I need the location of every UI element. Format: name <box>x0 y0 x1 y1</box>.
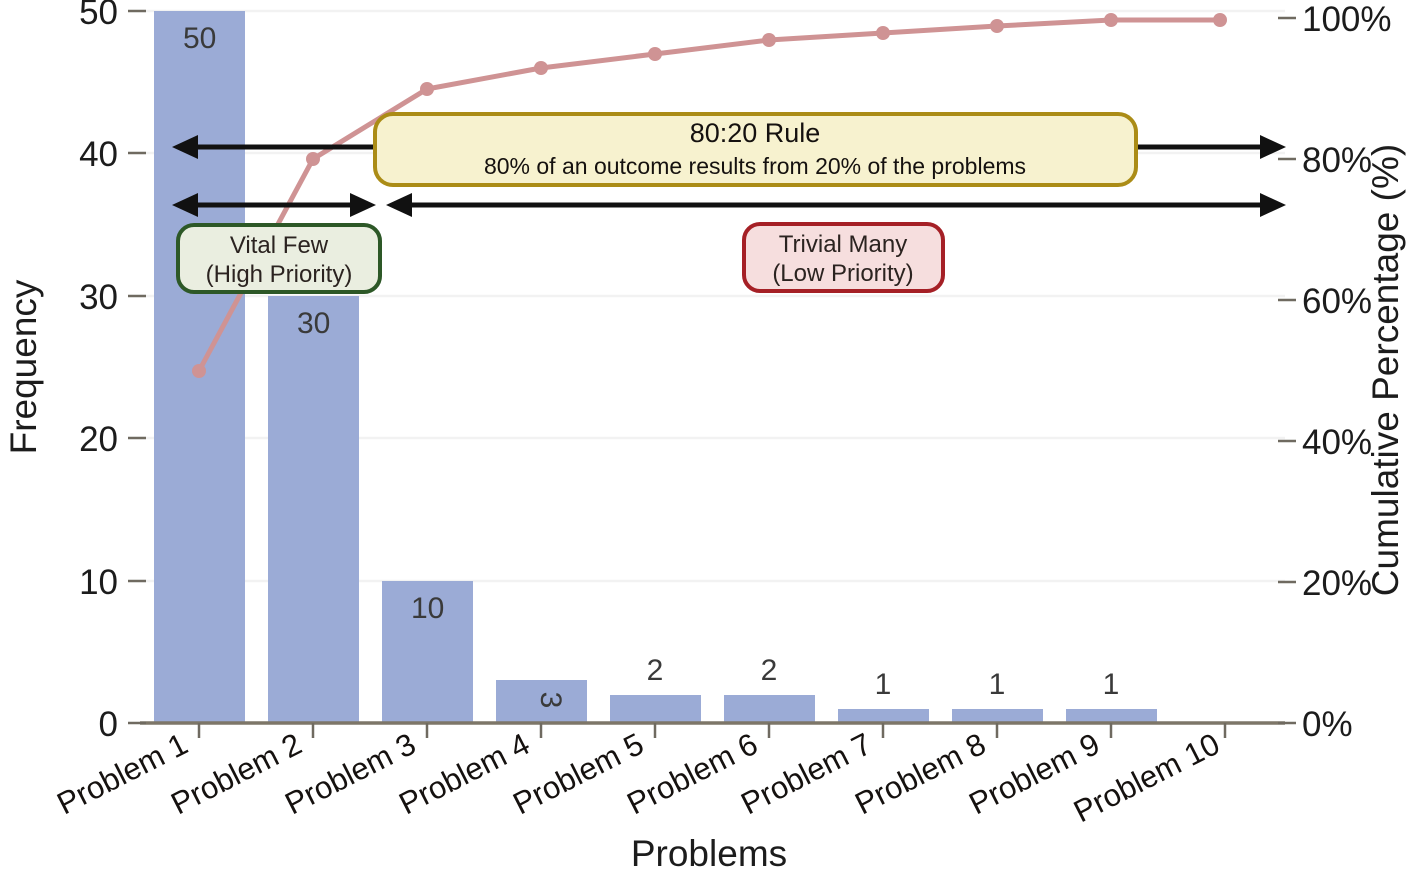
x-axis-tick-labels: Problem 1 Problem 2 Problem 3 Problem 4 … <box>51 726 1225 829</box>
ytick-label-30: 30 <box>79 278 118 317</box>
cumulative-point-6[interactable] <box>762 33 776 47</box>
vital-few-line-1: Vital Few <box>230 232 329 259</box>
y-axis-title: Frequency <box>3 279 44 454</box>
cumulative-point-4[interactable] <box>534 61 548 75</box>
y2tick-label-40: 40% <box>1302 423 1372 462</box>
left-axis-ticks: 50 40 30 20 10 0 <box>79 0 146 744</box>
bar-problem-9[interactable] <box>1066 709 1157 723</box>
rule-span-arrow-head-right <box>1260 135 1286 159</box>
y2tick-label-100: 100% <box>1302 0 1392 39</box>
xtick-label-4: Problem 4 <box>393 726 535 821</box>
cumulative-point-10[interactable] <box>1213 13 1227 27</box>
y2tick-label-0: 0% <box>1302 705 1353 744</box>
xtick-label-2: Problem 2 <box>165 726 307 821</box>
trivial-many-line-1: Trivial Many <box>779 231 907 258</box>
bar-problem-8[interactable] <box>952 709 1043 723</box>
trivial-many-arrow-head-left <box>386 193 412 217</box>
cumulative-point-1[interactable] <box>192 364 206 378</box>
trivial-many-line-2: (Low Priority) <box>772 260 913 287</box>
bar-label-problem-3: 10 <box>411 592 444 625</box>
bar-label-problem-5: 2 <box>647 654 664 687</box>
rule-box-title: 80:20 Rule <box>690 118 821 148</box>
bar-label-problem-4: 3 <box>534 692 567 709</box>
xtick-label-3: Problem 3 <box>279 726 421 821</box>
xtick-label-6: Problem 6 <box>621 726 763 821</box>
ytick-label-0: 0 <box>99 705 118 744</box>
vital-few-annotation-box[interactable]: Vital Few (High Priority) <box>178 225 380 292</box>
y2-axis-title: Cumulative Percentage (%) <box>1365 144 1406 596</box>
rule-annotation-box[interactable]: 80:20 Rule 80% of an outcome results fro… <box>375 114 1136 185</box>
bar-label-problem-6: 2 <box>761 654 778 687</box>
y2tick-label-60: 60% <box>1302 282 1372 321</box>
cumulative-point-5[interactable] <box>648 47 662 61</box>
pareto-chart-canvas: 50 30 10 3 2 2 1 1 1 <box>0 0 1418 878</box>
ytick-label-40: 40 <box>79 135 118 174</box>
y2tick-label-20: 20% <box>1302 564 1372 603</box>
bar-problem-7[interactable] <box>838 709 929 723</box>
xtick-label-1: Problem 1 <box>51 726 193 821</box>
bar-label-problem-7: 1 <box>875 668 892 701</box>
rule-box-subtitle: 80% of an outcome results from 20% of th… <box>484 153 1026 179</box>
pareto-chart: 50 30 10 3 2 2 1 1 1 <box>0 0 1418 878</box>
bar-label-problem-9: 1 <box>1103 668 1120 701</box>
ytick-label-10: 10 <box>79 563 118 602</box>
xtick-label-7: Problem 7 <box>735 726 877 821</box>
x-axis-title: Problems <box>631 833 787 874</box>
cumulative-point-2[interactable] <box>306 152 320 166</box>
bar-problem-6[interactable] <box>724 695 815 723</box>
bar-problem-2[interactable] <box>268 296 359 723</box>
cumulative-point-7[interactable] <box>876 26 890 40</box>
trivial-many-annotation-box[interactable]: Trivial Many (Low Priority) <box>744 224 943 291</box>
cumulative-point-8[interactable] <box>990 19 1004 33</box>
cumulative-point-9[interactable] <box>1104 13 1118 27</box>
vital-few-line-2: (High Priority) <box>206 261 353 288</box>
ytick-label-20: 20 <box>79 420 118 459</box>
cumulative-point-3[interactable] <box>420 82 434 96</box>
xtick-label-8: Problem 8 <box>849 726 991 821</box>
ytick-label-50: 50 <box>79 0 118 32</box>
bar-label-problem-1: 50 <box>183 22 216 55</box>
vital-few-arrow-head-right <box>350 193 376 217</box>
bar-problem-5[interactable] <box>610 695 701 723</box>
bar-label-problem-2: 30 <box>297 307 330 340</box>
xtick-label-5: Problem 5 <box>507 726 649 821</box>
y2tick-label-80: 80% <box>1302 141 1372 180</box>
trivial-many-arrow-head-right <box>1260 193 1286 217</box>
bar-label-problem-8: 1 <box>989 668 1006 701</box>
